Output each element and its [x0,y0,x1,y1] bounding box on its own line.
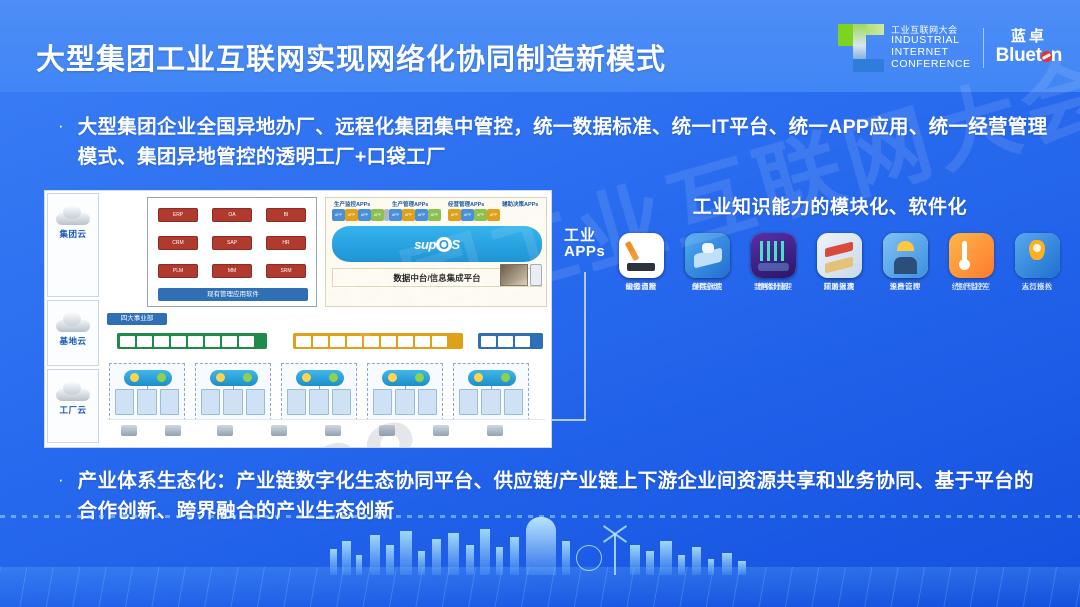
thermometer-icon [949,233,994,278]
unit-chip [222,336,237,347]
legacy-node: SAP [212,236,252,250]
brand-name-cn: 蓝卓 [996,29,1062,46]
legacy-node: MM [212,264,252,278]
apps-connector-horizontal [552,419,586,421]
apps-tag-line2: APPs [564,244,605,260]
plant-block [367,363,443,421]
footer-skyline [0,515,1080,607]
footer-ground-grid [0,567,1080,607]
conveyor-icon [817,233,862,278]
business-unit-band-orange [293,333,463,349]
app-chip: APP [358,209,371,221]
logo-zone: 工业互联网大会 INDUSTRIAL INTERNET CONFERENCE 蓝… [838,22,1062,74]
app-label: 巡检管理 [872,281,938,292]
field-equipment-strip [107,419,545,443]
platform-app-chip-row: APP APP APP APP APP APP APP APP APP APP … [332,209,500,221]
cloud-icon [56,205,90,225]
brand-en-left: Bluet [996,45,1042,66]
conference-t-mark-icon [838,24,884,72]
business-unit-band-blue [478,333,543,349]
apps-panel-title: 工业知识能力的模块化、软件化 [600,192,1060,219]
sensor-icon [685,233,730,278]
app-item[interactable]: 煤层入洗 [674,233,740,292]
cloud-layer-column: 集团云 基地云 工厂云 [47,193,99,447]
conference-name-en-3: CONFERENCE [891,59,971,71]
business-unit-band-green [117,333,267,349]
app-chip: APP [448,209,461,221]
app-item[interactable]: 能源调度 [608,233,674,292]
app-item[interactable]: 统防统控室 [938,233,1004,292]
app-label: 人员接入 [1004,281,1070,292]
supos-suffix: S [452,237,460,252]
bullet-marker: · [58,112,64,172]
app-item[interactable]: 巡检管理 [872,233,938,292]
unit-chip [120,336,135,347]
app-chip: APP [461,209,474,221]
app-item[interactable]: 人员接入 [1004,233,1070,292]
unit-chip [296,336,311,347]
apps-connector-vertical [584,272,586,420]
cloud-cell-group: 集团云 [47,193,99,297]
apps-tag-line1: 工业 [564,228,605,244]
site-photo [500,264,528,286]
app-chip: APP [402,209,415,221]
app-chip: APP [389,209,402,221]
app-label: 能源调度 [608,281,674,292]
unit-chip [239,336,254,347]
app-item[interactable]: 厂区报表 [806,233,872,292]
app-label: 统防统控室 [938,281,1004,292]
app-chip: APP [415,209,428,221]
supos-o-badge: O [436,237,452,252]
brand-logo: 蓝卓 Bluetn [996,29,1062,68]
industrial-apps-tag: 工业 APPs [564,228,605,260]
app-category-label: 经营管理APPs [448,200,484,208]
app-chip: APP [371,209,384,221]
brand-en-right: n [1051,45,1062,66]
cloud-label: 工厂云 [48,404,98,416]
conference-text: 工业互联网大会 INDUSTRIAL INTERNET CONFERENCE [891,25,971,70]
plant-block [281,363,357,421]
cloud-label: 基地云 [48,335,98,347]
unit-chip [498,336,513,347]
unit-chip [137,336,152,347]
conference-logo: 工业互联网大会 INDUSTRIAL INTERNET CONFERENCE [838,24,971,72]
legacy-node: OA [212,208,252,222]
legacy-node: CRM [158,236,198,250]
supos-platform-band: supOS [332,226,542,262]
legacy-node-grid: ERP OA BI CRM SAP HR PLM MM SRM [154,204,312,284]
brand-o-dot-icon [1041,51,1052,62]
brand-name-en: Bluetn [996,45,1062,67]
unit-chip [415,336,430,347]
slide-header: 大型集团工业互联网实现网络化协同制造新模式 工业互联网大会 INDUSTRIAL… [0,0,1080,92]
legacy-node: SRM [266,264,306,278]
cloud-icon [56,312,90,332]
bullet-text: 大型集团企业全国异地办厂、远程化集团集中管控，统一数据标准、统一IT平台、统一A… [78,112,1048,172]
unit-chip [481,336,496,347]
plant-block [453,363,529,421]
robot-arm-icon [619,233,664,278]
unit-chip [515,336,530,347]
app-label: 煤层入洗 [674,281,740,292]
four-business-units-label: 四大事业部 [107,313,167,325]
supos-prefix: sup [414,237,436,252]
person-pin-icon [1015,233,1060,278]
bullet-item-top: · 大型集团企业全国异地办厂、远程化集团集中管控，统一数据标准、统一IT平台、统… [58,112,1048,172]
worker-helmet-icon [883,233,928,278]
cloud-label: 集团云 [48,228,98,240]
legacy-software-box: ERP OA BI CRM SAP HR PLM MM SRM 现有管理应用软件 [147,197,317,307]
unit-chip [432,336,447,347]
unit-chip [205,336,220,347]
app-category-label: 生产管理APPs [392,200,428,208]
unit-chip [381,336,396,347]
mobile-device-icon [530,264,542,286]
unit-chip [171,336,186,347]
unit-chip [347,336,362,347]
apps-row: 能源调度 煤层入洗 整体分析 厂区报表 巡检管理 [608,233,938,292]
app-chip: APP [487,209,500,221]
app-item[interactable]: 整体分析 [740,233,806,292]
bars-analytics-icon [751,233,796,278]
architecture-diagram: 集团云 基地云 工厂云 ERP OA BI CRM SAP HR PLM MM … [44,190,552,448]
plant-block [195,363,271,421]
page-title: 大型集团工业互联网实现网络化协同制造新模式 [36,36,666,78]
unit-chip [154,336,169,347]
app-label: 厂区报表 [806,281,872,292]
cloud-cell-factory: 工厂云 [47,369,99,443]
legacy-node: ERP [158,208,198,222]
platform-box: 生产监控APPs 生产管理APPs 经营管理APPs 辅助决策APPs APP … [325,197,547,307]
app-chip: APP [345,209,358,221]
app-label: 整体分析 [740,281,806,292]
architecture-body: ERP OA BI CRM SAP HR PLM MM SRM 现有管理应用软件… [103,193,549,445]
city-silhouette [330,515,760,575]
app-category-label: 辅助决策APPs [502,200,538,208]
unit-chip [330,336,345,347]
unit-chip [188,336,203,347]
unit-chip [313,336,328,347]
app-chip: APP [474,209,487,221]
app-chip-divider [441,209,448,221]
cloud-icon [56,381,90,401]
unit-chip [364,336,379,347]
supos-logo-text: supOS [414,237,459,252]
legacy-software-label: 现有管理应用软件 [158,288,308,301]
legacy-node: BI [266,208,306,222]
app-chip: APP [428,209,441,221]
plant-block [109,363,185,421]
logo-divider [983,28,984,68]
app-chip: APP [332,209,345,221]
cloud-cell-base: 基地云 [47,300,99,366]
legacy-node: HR [266,236,306,250]
app-category-label: 生产监控APPs [334,200,370,208]
unit-chip [398,336,413,347]
legacy-node: PLM [158,264,198,278]
